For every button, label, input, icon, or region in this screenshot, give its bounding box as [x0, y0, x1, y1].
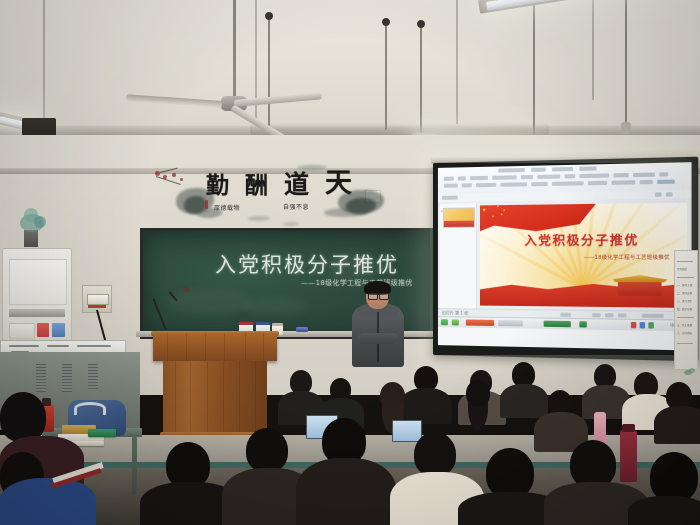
student-shoulders [500, 384, 548, 418]
plant-foliage [34, 216, 46, 228]
plum-blossom [155, 171, 160, 176]
decorative-plant-sticker [684, 368, 696, 380]
student-shoulders [628, 496, 700, 525]
calligraphy-char-chou: 酬 [245, 174, 268, 197]
backpack-strap [74, 402, 106, 415]
light-hanger-rod [533, 0, 535, 140]
classroom-photo: 勤 酬 道 天 厚德载物 自强不息 入党积极分子推优 ——18级化学工程与工艺班… [0, 0, 700, 525]
blackboard-subtitle: ——18级化学工程与工艺班级推优 [301, 278, 413, 288]
ceiling-beam [252, 124, 547, 135]
projection-screen: 1 ★ ★ ★ [433, 157, 698, 362]
ceiling-fan-rod [233, 0, 236, 98]
student-head [466, 380, 490, 406]
student-head [486, 448, 534, 498]
ac-label-blue [52, 323, 65, 337]
student-head [414, 432, 456, 476]
student-head [650, 452, 698, 502]
taskbar-icon-explorer[interactable] [498, 320, 523, 326]
taskbar-icon-start[interactable] [441, 319, 448, 325]
student-head [380, 382, 405, 409]
slide-canvas[interactable]: ★ ★ ★ ★ ★ 入党积极分子推优 ——18级化学工程与工艺班级推优 [480, 203, 687, 308]
hanger-cap [621, 122, 631, 134]
ac-grill [9, 309, 65, 317]
calligraphy-char-dao: 道 [284, 172, 309, 197]
presenter-crossed-arms [358, 333, 398, 344]
laptop-screen[interactable] [392, 420, 422, 442]
microphone-head [183, 286, 189, 292]
taskbar-icon-powerpoint[interactable] [466, 319, 494, 326]
slide-title: 入党积极分子推优 [480, 230, 687, 249]
hanger-cap [265, 12, 273, 20]
slide-thumbnail-1[interactable] [443, 207, 475, 227]
calligraphy-inscription-left: 厚德载物 [214, 203, 240, 212]
student-head [246, 428, 288, 472]
desk-leg [132, 437, 137, 495]
student-shoulders [654, 406, 700, 444]
projected-image: 1 ★ ★ ★ [438, 162, 692, 350]
hanger-cap [382, 18, 390, 26]
thermos-cap [622, 424, 635, 432]
plum-blossom [172, 173, 176, 177]
tiananmen-graphic [612, 275, 667, 296]
plum-blossom [180, 178, 183, 181]
wall-calligraphy-art: 勤 酬 道 天 厚德载物 自强不息 [150, 160, 420, 230]
wall-notice-board: 行为规范 一、按时上课 二、保持安静 三、讲究卫生 四、爱护公物 五、禁止吸烟 … [674, 250, 698, 370]
taskbar-icon-tray-red[interactable] [631, 322, 636, 328]
slide-subtitle: ——18级化学工程与工艺班级推优 [583, 253, 669, 260]
presenter-glasses-left [368, 293, 378, 300]
electrical-box-label [88, 305, 106, 308]
slide-thumbnail-number: 1 [441, 209, 443, 213]
plant-pot [24, 230, 38, 247]
book-green [88, 429, 116, 437]
ac-label-warning [37, 323, 49, 337]
light-hanger-rod [268, 14, 270, 130]
light-hanger-rod [625, 0, 627, 124]
ac-vent-panel [9, 259, 67, 305]
light-hanger-rod [385, 20, 387, 130]
podium-top [153, 333, 277, 361]
podium-body [163, 361, 267, 435]
artist-seal [205, 200, 208, 209]
calligraphy-inscription-right: 自强不息 [283, 202, 309, 211]
blackboard-title: 入党积极分子推优 [215, 249, 399, 279]
powerpoint-workspace: 1 ★ ★ ★ [438, 198, 692, 331]
student-shoulders [400, 388, 452, 424]
ac-label-energy [9, 323, 35, 339]
student-shoulders [296, 458, 396, 525]
hanger-cap [417, 20, 425, 28]
plum-blossom [163, 175, 167, 179]
windows-taskbar[interactable]: 中 ⌨ 拼 [438, 316, 692, 331]
taskbar-icon-player[interactable] [579, 321, 586, 327]
calligraphy-char-qin: 勤 [206, 174, 229, 197]
electrical-box-window [87, 294, 109, 305]
blackboard-eraser [296, 327, 308, 332]
taskbar-icon-tray-green[interactable] [648, 322, 653, 328]
student-head [0, 392, 46, 442]
thermos-maroon [620, 430, 637, 482]
student-shoulders [0, 478, 96, 525]
taskbar-icon-tray-blue[interactable] [640, 322, 645, 328]
taskbar-icon-media[interactable] [544, 321, 571, 328]
presenter-glasses-right [379, 293, 389, 300]
taskbar-icon-browser[interactable] [452, 319, 459, 325]
student-head [570, 440, 616, 488]
